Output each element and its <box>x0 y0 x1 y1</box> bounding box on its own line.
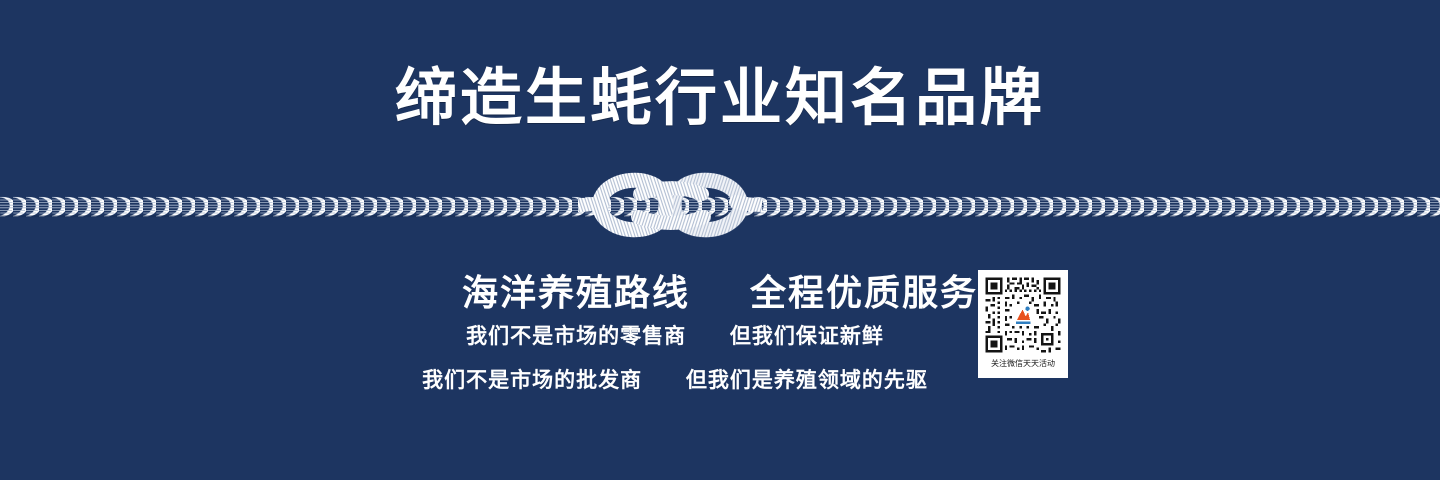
qr-caption: 关注微信天天活动 <box>991 357 1055 371</box>
qr-code-image[interactable] <box>983 275 1063 355</box>
subtitle-left: 海洋养殖路线 <box>462 272 690 313</box>
body-line-1-left: 我们不是市场的零售商 <box>466 325 686 348</box>
body-line-1-right: 但我们保证新鲜 <box>730 325 884 348</box>
body-line-2: 我们不是市场的批发商 但我们是养殖领域的先驱 <box>0 364 1440 394</box>
qr-card[interactable]: 关注微信天天活动 <box>978 270 1068 378</box>
body-line-1: 我们不是市场的零售商 但我们保证新鲜 <box>0 320 1440 350</box>
body-line-2-right: 但我们是养殖领域的先驱 <box>686 369 928 392</box>
subtitle-right: 全程优质服务 <box>750 272 978 313</box>
qr-code-icon <box>983 275 1063 355</box>
body-line-2-left: 我们不是市场的批发商 <box>422 369 642 392</box>
promo-banner: 缔造生蚝行业知名品牌 <box>0 0 1440 480</box>
subtitle: 海洋养殖路线 全程优质服务 <box>0 264 1440 316</box>
rope-knot-icon <box>578 164 762 246</box>
page-title: 缔造生蚝行业知名品牌 <box>0 66 1440 131</box>
